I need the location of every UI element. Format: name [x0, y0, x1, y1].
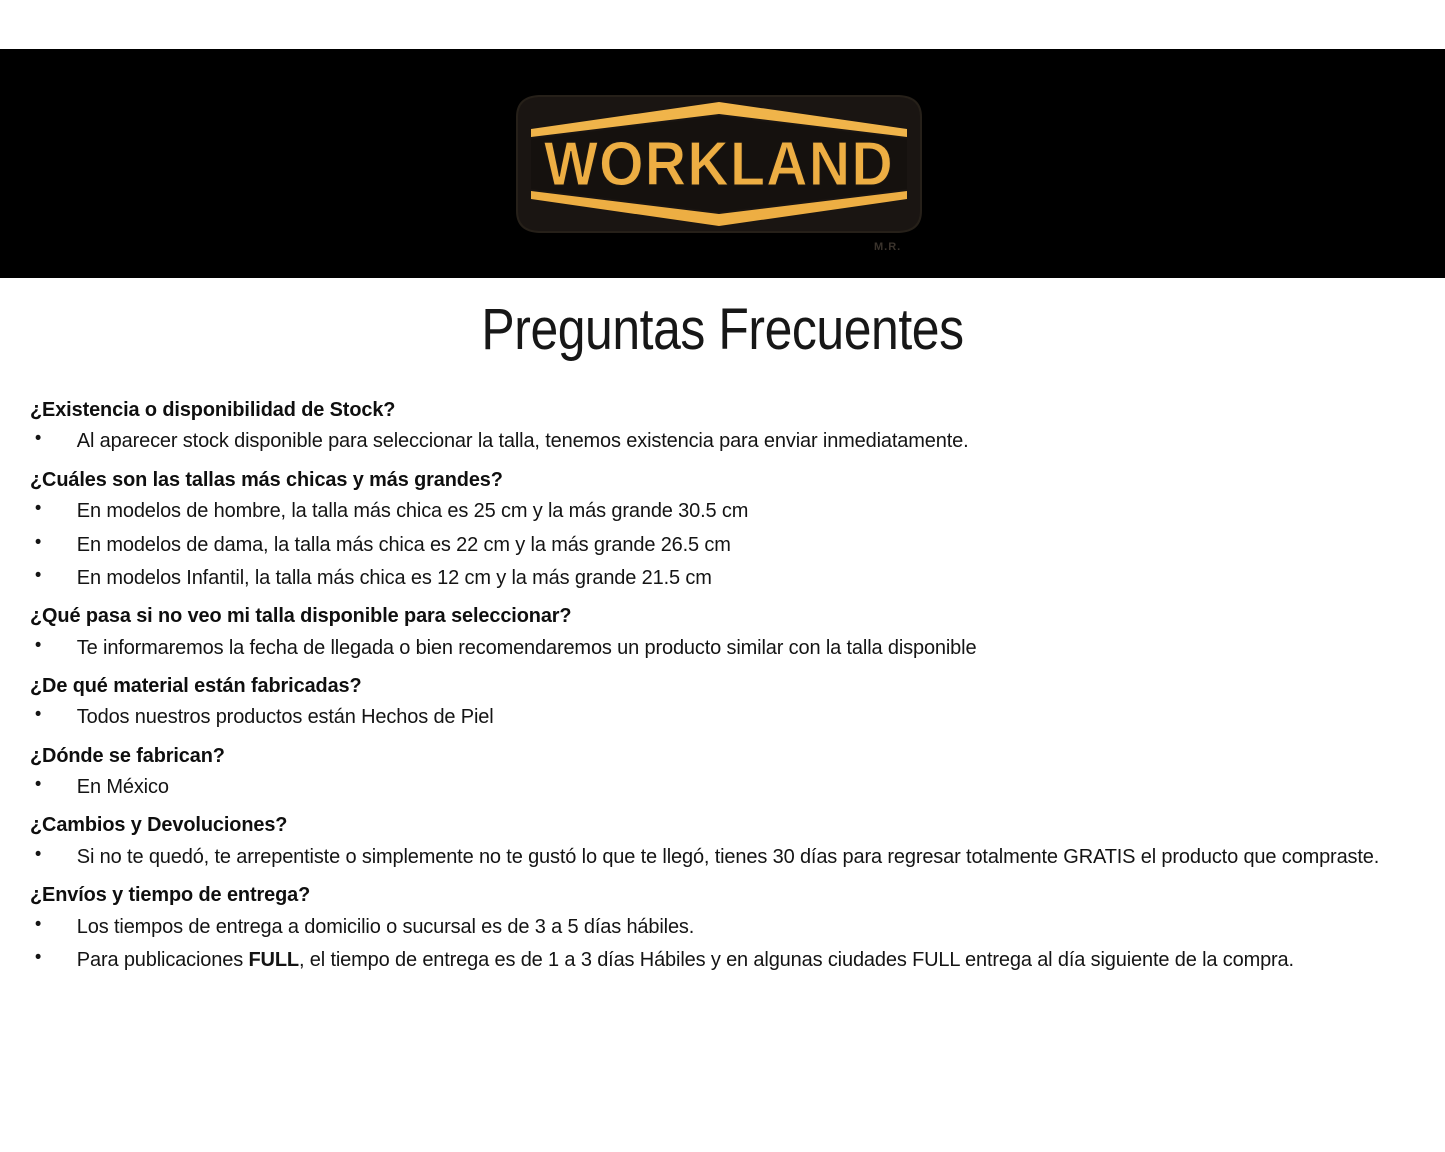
workland-logo: WORKLAND M.R. — [499, 89, 939, 239]
faq-answer: •Para publicaciones FULL, el tiempo de e… — [30, 946, 1380, 974]
faq-question: ¿De qué material están fabricadas? — [30, 672, 1373, 699]
faq-question: ¿Envíos y tiempo de entrega? — [30, 881, 1373, 908]
bullet-icon: • — [35, 945, 41, 971]
faq-group: ¿Cuáles son las tallas más chicas y más … — [30, 466, 1415, 592]
bullet-icon: • — [35, 530, 41, 556]
faq-page: WORKLAND M.R. Preguntas Frecuentes ¿Exis… — [0, 0, 1445, 1152]
faq-answer: •Al aparecer stock disponible para selec… — [30, 427, 1380, 455]
faq-answer-text: Al aparecer stock disponible para selecc… — [77, 429, 969, 452]
bullet-icon: • — [35, 772, 41, 798]
bullet-icon: • — [35, 496, 41, 522]
faq-question: ¿Cambios y Devoluciones? — [30, 811, 1373, 838]
faq-answer-text: Si no te quedó, te arrepentiste o simple… — [77, 845, 1379, 868]
faq-answer-text: En modelos de dama, la talla más chica e… — [77, 533, 731, 556]
faq-answer: •En modelos Infantil, la talla más chica… — [30, 564, 1380, 592]
faq-list: ¿Existencia o disponibilidad de Stock?•A… — [30, 396, 1415, 979]
faq-answer: •En modelos de dama, la talla más chica … — [30, 531, 1380, 559]
faq-answer: •Te informaremos la fecha de llegada o b… — [30, 634, 1380, 662]
faq-answer: •En modelos de hombre, la talla más chic… — [30, 497, 1380, 525]
faq-answer-text: Te informaremos la fecha de llegada o bi… — [77, 636, 977, 659]
faq-question: ¿Existencia o disponibilidad de Stock? — [30, 396, 1373, 423]
bullet-icon: • — [35, 912, 41, 938]
faq-answer-text: Para publicaciones FULL, el tiempo de en… — [77, 948, 1294, 971]
faq-group: ¿De qué material están fabricadas?•Todos… — [30, 672, 1415, 732]
bullet-icon: • — [35, 633, 41, 659]
faq-answer-text: Todos nuestros productos están Hechos de… — [77, 705, 494, 728]
faq-answer-text: En México — [77, 775, 169, 798]
faq-group: ¿Existencia o disponibilidad de Stock?•A… — [30, 396, 1415, 456]
bullet-icon: • — [35, 842, 41, 868]
trademark-mark: M.R. — [874, 241, 901, 253]
faq-answer-text: En modelos Infantil, la talla más chica … — [77, 566, 712, 589]
bullet-icon: • — [35, 426, 41, 452]
faq-group: ¿Qué pasa si no veo mi talla disponible … — [30, 602, 1415, 662]
logo-wordmark: WORKLAND — [517, 89, 922, 239]
faq-answer-text: Los tiempos de entrega a domicilio o suc… — [77, 915, 694, 938]
faq-answer: •Si no te quedó, te arrepentiste o simpl… — [30, 843, 1380, 871]
faq-answer: •Los tiempos de entrega a domicilio o su… — [30, 913, 1380, 941]
faq-question: ¿Cuáles son las tallas más chicas y más … — [30, 466, 1373, 493]
faq-question: ¿Qué pasa si no veo mi talla disponible … — [30, 602, 1373, 629]
header-band: WORKLAND M.R. — [0, 49, 1445, 278]
bullet-icon: • — [35, 702, 41, 728]
faq-group: ¿Envíos y tiempo de entrega?•Los tiempos… — [30, 881, 1415, 974]
faq-question: ¿Dónde se fabrican? — [30, 742, 1373, 769]
page-title: Preguntas Frecuentes — [101, 296, 1344, 363]
faq-group: ¿Cambios y Devoluciones?•Si no te quedó,… — [30, 811, 1415, 871]
bullet-icon: • — [35, 563, 41, 589]
faq-answer: •Todos nuestros productos están Hechos d… — [30, 703, 1380, 731]
faq-group: ¿Dónde se fabrican?•En México — [30, 742, 1415, 802]
faq-answer-text: En modelos de hombre, la talla más chica… — [77, 499, 748, 522]
faq-answer: •En México — [30, 773, 1380, 801]
